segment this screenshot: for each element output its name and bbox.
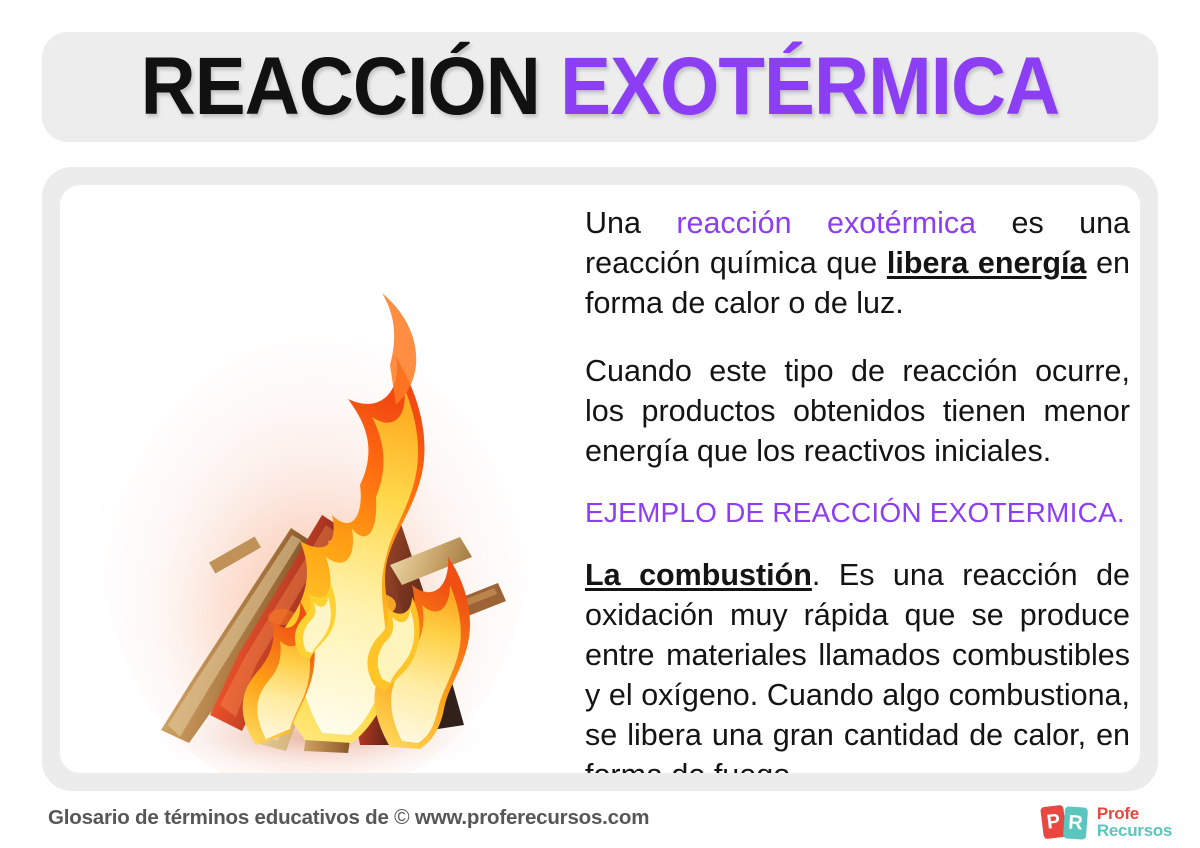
example-heading: EJEMPLO DE REACCIÓN EXOTERMICA. <box>585 495 1130 531</box>
paragraph-spacer-2 <box>585 471 1130 495</box>
p1-highlight-term: reacción exotérmica <box>676 206 976 240</box>
p1-emphasis-libera-energia: libera energía <box>887 246 1087 280</box>
p1-seg1: Una <box>585 206 676 240</box>
paragraph-definition: Una reacción exotérmica es una reacción … <box>585 203 1130 323</box>
page-title-part-one: REACCIÓN <box>141 41 540 132</box>
paragraph-spacer-3 <box>585 531 1130 555</box>
definition-text-column: Una reacción exotérmica es una reacción … <box>585 203 1130 773</box>
logo-word-profe: Profe <box>1097 805 1172 822</box>
logo-word-recursos: Recursos <box>1097 822 1172 839</box>
p3-term-la-combustion: La combustión <box>585 558 812 592</box>
content-panel: Una reacción exotérmica es una reacción … <box>42 167 1158 791</box>
footer-credit-label: Glosario de términos educativos de <box>48 806 389 829</box>
logo-wordmark: Profe Recursos <box>1097 805 1172 839</box>
page-title-part-two: EXOTÉRMICA <box>560 41 1059 132</box>
footer-bar: Glosario de términos educativos de © www… <box>0 795 1200 848</box>
footer-site-url[interactable]: www.proferecursos.com <box>415 806 649 829</box>
campfire-illustration <box>60 185 570 773</box>
paragraph-spacer-1 <box>585 323 1130 351</box>
white-card: Una reacción exotérmica es una reacción … <box>60 185 1140 773</box>
logo-tiles: P R <box>1042 803 1090 841</box>
footer-credit: Glosario de términos educativos de © www… <box>48 806 649 830</box>
logo-tile-r: R <box>1063 806 1088 840</box>
paragraph-products-energy: Cuando este tipo de reacción ocurre, los… <box>585 351 1130 471</box>
proferecursos-logo[interactable]: P R Profe Recursos <box>1042 800 1172 844</box>
header-banner: REACCIÓN EXOTÉRMICA <box>42 32 1158 142</box>
copyright-icon: © <box>394 806 409 829</box>
paragraph-combustion: La combustión. Es una reacción de oxidac… <box>585 555 1130 773</box>
page-title: REACCIÓN EXOTÉRMICA <box>141 44 1060 130</box>
